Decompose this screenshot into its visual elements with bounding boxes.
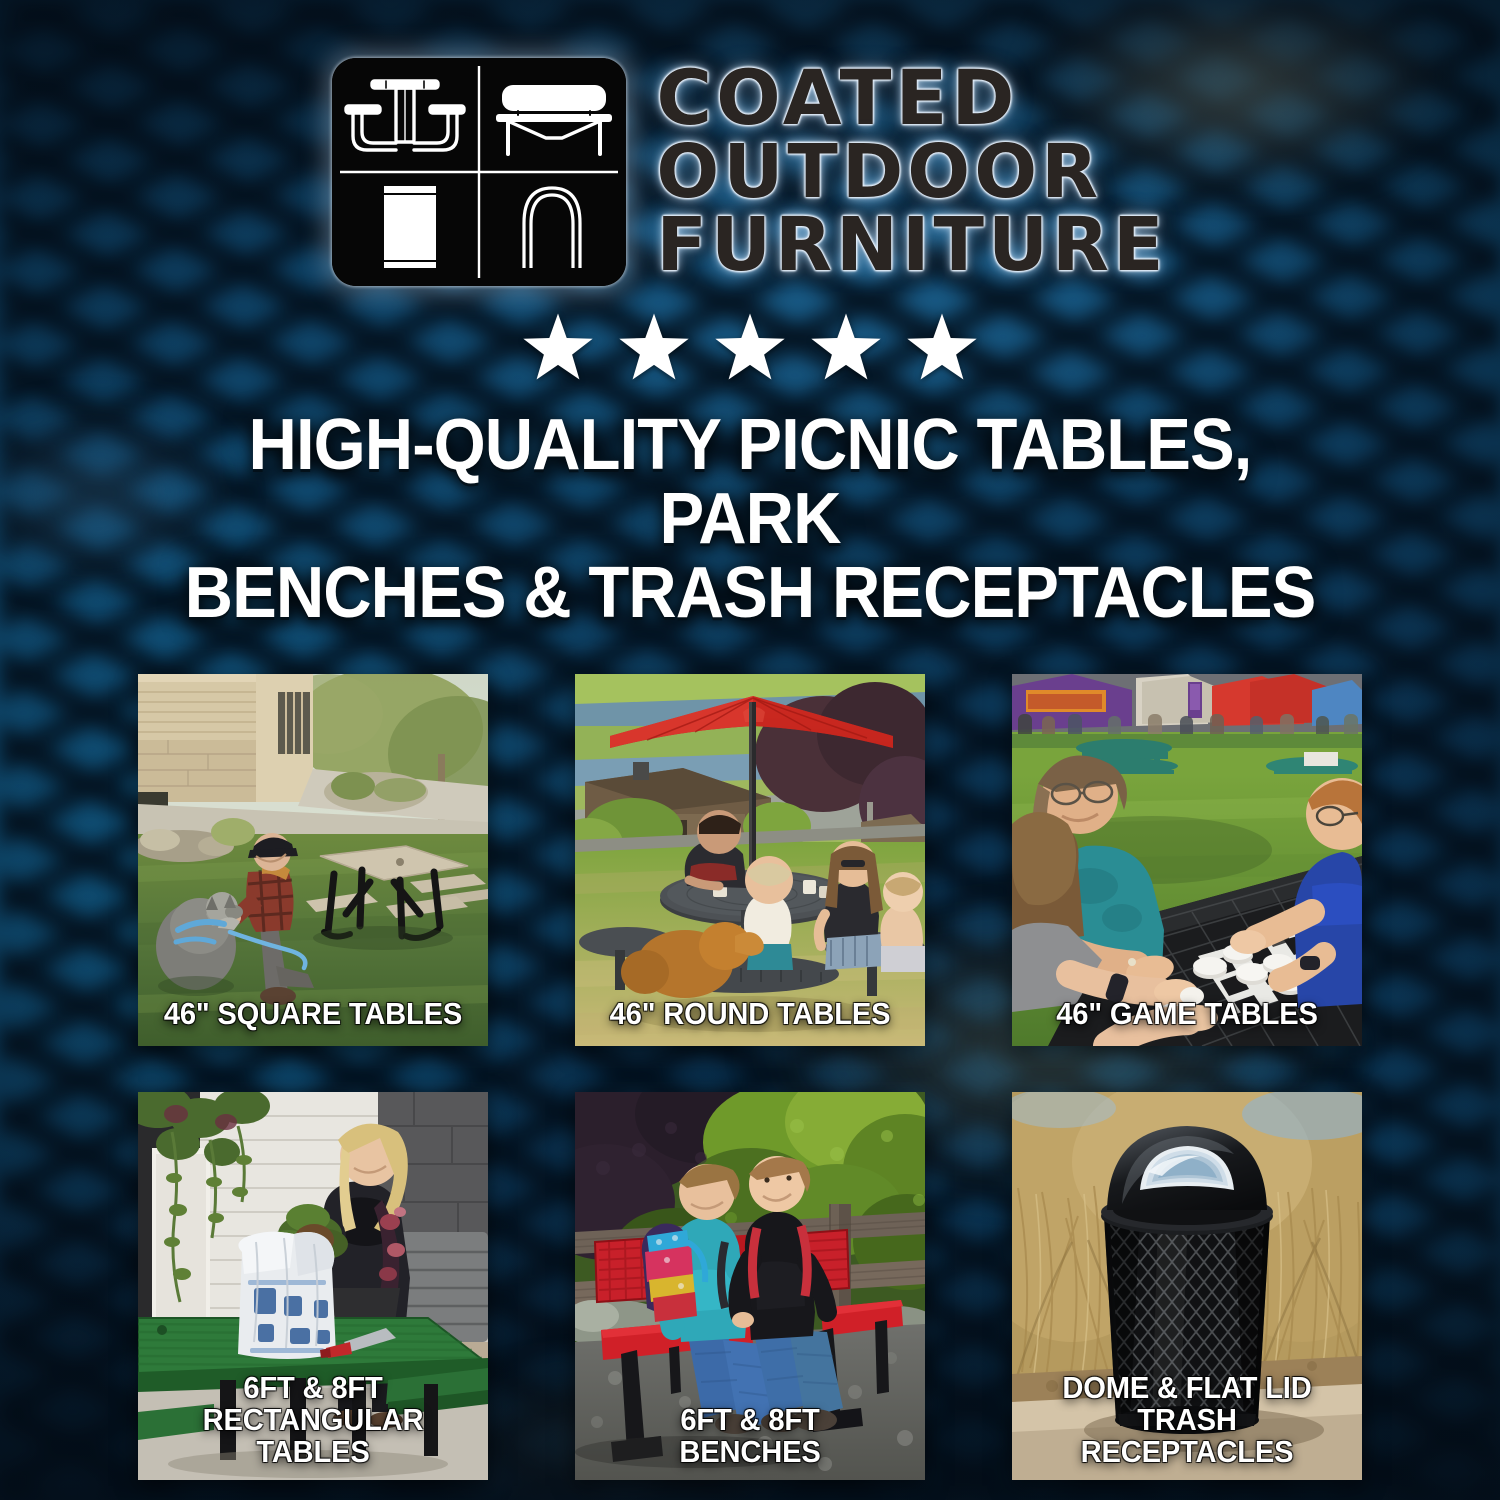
- star-rating: [0, 312, 1500, 388]
- headline-line-2: BENCHES & TRASH RECEPTACLES: [150, 556, 1350, 630]
- page-title: HIGH-QUALITY PICNIC TABLES, PARK BENCHES…: [150, 408, 1350, 630]
- product-card-caption: DOME & FLAT LID TRASH RECEPTACLES: [1023, 1372, 1352, 1469]
- brand-name: COATED OUTDOOR FURNITURE: [656, 62, 1167, 281]
- product-card-caption: 6FT & 8FT BENCHES: [586, 1404, 915, 1468]
- product-card-square-tables[interactable]: 46" SQUARE TABLES: [138, 674, 488, 1046]
- round-tables-photo: [575, 674, 925, 1046]
- product-card-caption: 46" SQUARE TABLES: [149, 998, 478, 1030]
- four-quadrant-furniture-logo-icon: [332, 58, 626, 286]
- square-tables-photo: [138, 674, 488, 1046]
- product-card-game-tables[interactable]: 46" GAME TABLES: [1012, 674, 1362, 1046]
- product-card-caption: 46" ROUND TABLES: [586, 998, 915, 1030]
- brand-logo: COATED OUTDOOR FURNITURE: [0, 58, 1500, 286]
- product-card-round-tables[interactable]: 46" ROUND TABLES: [575, 674, 925, 1046]
- star-icon: [807, 312, 885, 388]
- product-card-trash-receptacles[interactable]: DOME & FLAT LID TRASH RECEPTACLES: [1012, 1092, 1362, 1480]
- product-card-caption: 46" GAME TABLES: [1023, 998, 1352, 1030]
- product-card-benches[interactable]: 6FT & 8FT BENCHES: [575, 1092, 925, 1480]
- product-card-rectangular-tables[interactable]: 6FT & 8FT RECTANGULAR TABLES: [138, 1092, 488, 1480]
- brand-name-line-1: COATED: [656, 62, 1018, 135]
- banner-header: COATED OUTDOOR FURNITURE HIGH-QUALITY PI…: [0, 0, 1500, 630]
- product-card-caption: 6FT & 8FT RECTANGULAR TABLES: [149, 1372, 478, 1469]
- product-grid: 46" SQUARE TABLES: [138, 674, 1362, 1480]
- star-icon: [711, 312, 789, 388]
- star-icon: [903, 312, 981, 388]
- brand-name-line-2: OUTDOOR: [656, 137, 1102, 208]
- game-tables-photo: [1012, 674, 1362, 1046]
- promo-banner: COATED OUTDOOR FURNITURE HIGH-QUALITY PI…: [0, 0, 1500, 1500]
- headline-line-1: HIGH-QUALITY PICNIC TABLES, PARK: [150, 408, 1350, 556]
- star-icon: [519, 312, 597, 388]
- brand-name-line-3: FURNITURE: [656, 210, 1167, 281]
- star-icon: [615, 312, 693, 388]
